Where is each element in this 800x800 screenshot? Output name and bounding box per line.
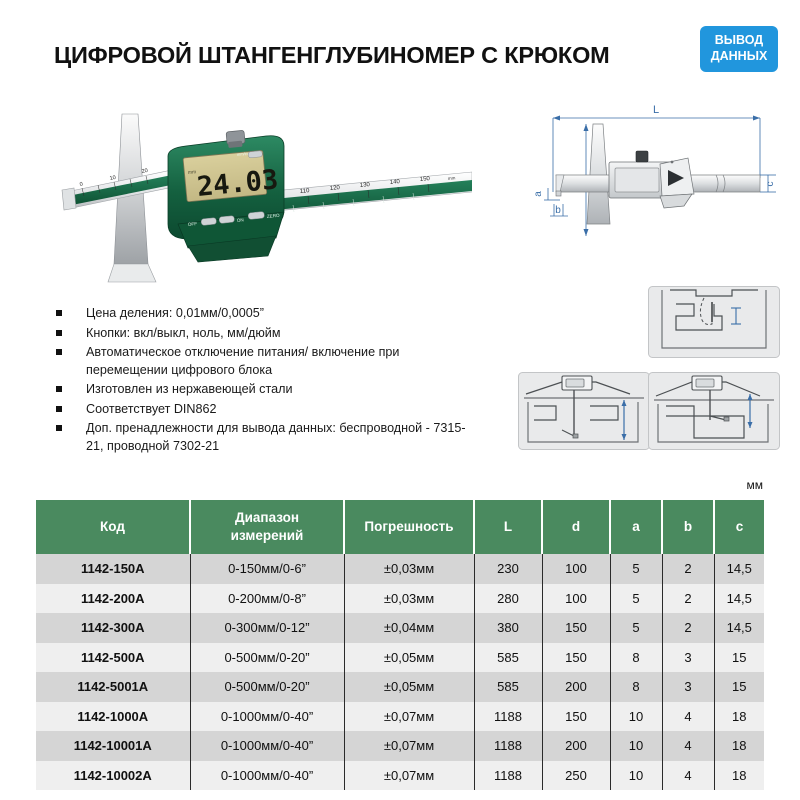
cell-range: 0-300мм/0-12” [190, 613, 344, 643]
table-unit-label: мм [747, 478, 764, 492]
cell-d: 150 [542, 613, 610, 643]
cell-b: 2 [662, 554, 714, 584]
td-roller [636, 151, 648, 162]
cell-d: 250 [542, 761, 610, 791]
column-header-d: d [542, 500, 610, 554]
app3-hook-tip [724, 417, 729, 421]
svg-text:mm: mm [448, 175, 456, 181]
cell-code: 1142-500A [36, 643, 190, 673]
technical-dimension-drawing: L d a b [520, 96, 782, 244]
cell-accuracy: ±0,03мм [344, 584, 474, 614]
table-row: 1142-150A 0-150мм/0-6” ±0,03мм 230 100 5… [36, 554, 764, 584]
button-zero[interactable] [248, 211, 265, 219]
cell-range: 0-500мм/0-20” [190, 672, 344, 702]
cell-c: 18 [714, 702, 764, 732]
cell-L: 230 [474, 554, 542, 584]
table-row: 1142-300A 0-300мм/0-12” ±0,04мм 380 150 … [36, 613, 764, 643]
cell-b: 4 [662, 761, 714, 791]
cell-c: 18 [714, 761, 764, 791]
cell-a: 5 [610, 554, 662, 584]
column-header-accuracy: Погрешность [344, 500, 474, 554]
cell-accuracy: ±0,05мм [344, 643, 474, 673]
page-title: ЦИФРОВОЙ ШТАНГЕНГЛУБИНОМЕР С КРЮКОМ [54, 42, 674, 69]
cell-d: 100 [542, 584, 610, 614]
cell-L: 1188 [474, 702, 542, 732]
column-header-range-line1: Диапазон [192, 509, 342, 527]
cell-accuracy: ±0,04мм [344, 613, 474, 643]
cell-accuracy: ±0,07мм [344, 702, 474, 732]
application-diagram-1 [648, 286, 780, 358]
cell-code: 1142-5001A [36, 672, 190, 702]
product-photo: 0 10 20 90 100 110 120 130 140 150 mm [52, 96, 472, 286]
table-row: 1142-200A 0-200мм/0-8” ±0,03мм 280 100 5… [36, 584, 764, 614]
cell-L: 280 [474, 584, 542, 614]
button-off-label: OFF [188, 221, 198, 227]
svg-text:130: 130 [360, 182, 371, 189]
list-item: Кнопки: вкл/выкл, ноль, мм/дюйм [52, 325, 472, 343]
hook-tip [62, 188, 76, 210]
cell-code: 1142-200A [36, 584, 190, 614]
cell-c: 14,5 [714, 613, 764, 643]
dim-label-b: b [555, 205, 561, 216]
cell-L: 585 [474, 672, 542, 702]
table-row: 1142-1000A 0-1000мм/0-40” ±0,07мм 1188 1… [36, 702, 764, 732]
bullet-square-icon [52, 420, 86, 431]
column-header-a: a [610, 500, 662, 554]
cell-range: 0-500мм/0-20” [190, 643, 344, 673]
cell-L: 380 [474, 613, 542, 643]
svg-text:140: 140 [390, 179, 401, 186]
cell-d: 100 [542, 554, 610, 584]
column-header-L: L [474, 500, 542, 554]
column-header-b: b [662, 500, 714, 554]
svg-text:10: 10 [109, 175, 116, 182]
table-row: 1142-10001A 0-1000мм/0-40” ±0,07мм 1188 … [36, 731, 764, 761]
cell-a: 8 [610, 643, 662, 673]
app3-cavity [694, 416, 744, 438]
application-diagram-2 [518, 372, 650, 450]
button-on-label: ON [237, 217, 244, 223]
button-mm-in[interactable] [248, 151, 263, 158]
cell-c: 15 [714, 643, 764, 673]
list-item: Изготовлен из нержавеющей стали [52, 381, 472, 399]
list-item: Автоматическое отключение питания/ включ… [52, 344, 472, 379]
column-header-code: Код [36, 500, 190, 554]
feature-list: Цена деления: 0,01мм/0,0005” Кнопки: вкл… [52, 305, 472, 457]
app2-hook-tip [573, 434, 578, 438]
cell-b: 4 [662, 731, 714, 761]
table-row: 1142-5001A 0-500мм/0-20” ±0,05мм 585 200… [36, 672, 764, 702]
cell-c: 14,5 [714, 584, 764, 614]
cell-L: 1188 [474, 761, 542, 791]
feature-text: Изготовлен из нержавеющей стали [86, 381, 292, 399]
cell-accuracy: ±0,03мм [344, 554, 474, 584]
cell-accuracy: ±0,05мм [344, 672, 474, 702]
td-screw-icon [671, 161, 674, 164]
button-on[interactable] [219, 216, 235, 224]
cell-b: 2 [662, 613, 714, 643]
cell-c: 14,5 [714, 554, 764, 584]
blade-tip [108, 264, 156, 282]
feature-text: Автоматическое отключение питания/ включ… [86, 344, 472, 379]
brand-arrow-icon [352, 239, 359, 245]
brand-logo: INSIZE [363, 235, 392, 248]
cell-range: 0-1000мм/0-40” [190, 761, 344, 791]
svg-text:150: 150 [420, 176, 431, 183]
table-header-row: Код Диапазон измерений Погрешность L d a… [36, 500, 764, 554]
cell-a: 8 [610, 672, 662, 702]
cell-a: 10 [610, 761, 662, 791]
cell-b: 3 [662, 672, 714, 702]
list-item: Доп. пренадлежности для вывода данных: б… [52, 420, 472, 455]
table-row: 1142-500A 0-500мм/0-20” ±0,05мм 585 150 … [36, 643, 764, 673]
dim-label-c: c [765, 182, 776, 187]
cell-range: 0-1000мм/0-40” [190, 702, 344, 732]
cell-c: 15 [714, 672, 764, 702]
app1-frame [649, 287, 780, 358]
bullet-square-icon [52, 325, 86, 336]
cell-L: 1188 [474, 731, 542, 761]
cell-d: 200 [542, 672, 610, 702]
feature-text: Цена деления: 0,01мм/0,0005” [86, 305, 264, 323]
lcd-unit-label: mm [188, 169, 197, 176]
button-mm-in-label: mm/in [237, 151, 248, 157]
td-lcd [615, 168, 659, 192]
cell-d: 150 [542, 702, 610, 732]
feature-text: Кнопки: вкл/выкл, ноль, мм/дюйм [86, 325, 280, 343]
cell-accuracy: ±0,07мм [344, 731, 474, 761]
dim-label-a: a [533, 191, 544, 197]
svg-text:20: 20 [141, 168, 148, 175]
feature-text: Соответствует DIN862 [86, 401, 217, 419]
feature-text: Доп. пренадлежности для вывода данных: б… [86, 420, 472, 455]
td-head-bottom [660, 194, 692, 208]
column-header-range: Диапазон измерений [190, 500, 344, 554]
cell-code: 1142-10002A [36, 761, 190, 791]
td-hook-tip [556, 191, 561, 196]
cell-d: 150 [542, 643, 610, 673]
cell-accuracy: ±0,07мм [344, 761, 474, 791]
badge-line-1: ВЫВОД [715, 33, 763, 49]
list-item: Соответствует DIN862 [52, 401, 472, 419]
button-off[interactable] [201, 218, 217, 226]
cell-code: 1142-150A [36, 554, 190, 584]
badge-line-2: ДАННЫХ [711, 49, 768, 65]
svg-text:0: 0 [79, 181, 83, 187]
cell-a: 10 [610, 702, 662, 732]
svg-text:110: 110 [300, 188, 311, 195]
dim-label-L: L [653, 104, 659, 116]
cell-b: 2 [662, 584, 714, 614]
cell-range: 0-200мм/0-8” [190, 584, 344, 614]
bullet-square-icon [52, 401, 86, 412]
cell-a: 5 [610, 613, 662, 643]
table-row: 1142-10002A 0-1000мм/0-40” ±0,07мм 1188 … [36, 761, 764, 791]
svg-text:120: 120 [330, 185, 341, 192]
cell-b: 3 [662, 643, 714, 673]
cell-code: 1142-10001A [36, 731, 190, 761]
bullet-square-icon [52, 305, 86, 316]
status-badge-data-output: ВЫВОД ДАННЫХ [700, 26, 778, 72]
application-diagram-3 [648, 372, 780, 450]
cell-c: 18 [714, 731, 764, 761]
cell-code: 1142-300A [36, 613, 190, 643]
cell-range: 0-150мм/0-6” [190, 554, 344, 584]
column-header-c: c [714, 500, 764, 554]
bullet-square-icon [52, 381, 86, 392]
cell-L: 585 [474, 643, 542, 673]
cell-range: 0-1000мм/0-40” [190, 731, 344, 761]
td-blade [587, 124, 610, 224]
brand-arrow-right-icon [414, 236, 422, 242]
app2-lcd [566, 379, 584, 387]
column-header-range-line2: измерений [192, 527, 342, 545]
cell-b: 4 [662, 702, 714, 732]
app3-lcd [696, 379, 714, 387]
cell-a: 5 [610, 584, 662, 614]
cell-code: 1142-1000A [36, 702, 190, 732]
bullet-square-icon [52, 344, 86, 355]
cell-d: 200 [542, 731, 610, 761]
specification-table: Код Диапазон измерений Погрешность L d a… [36, 500, 764, 790]
cell-a: 10 [610, 731, 662, 761]
list-item: Цена деления: 0,01мм/0,0005” [52, 305, 472, 323]
